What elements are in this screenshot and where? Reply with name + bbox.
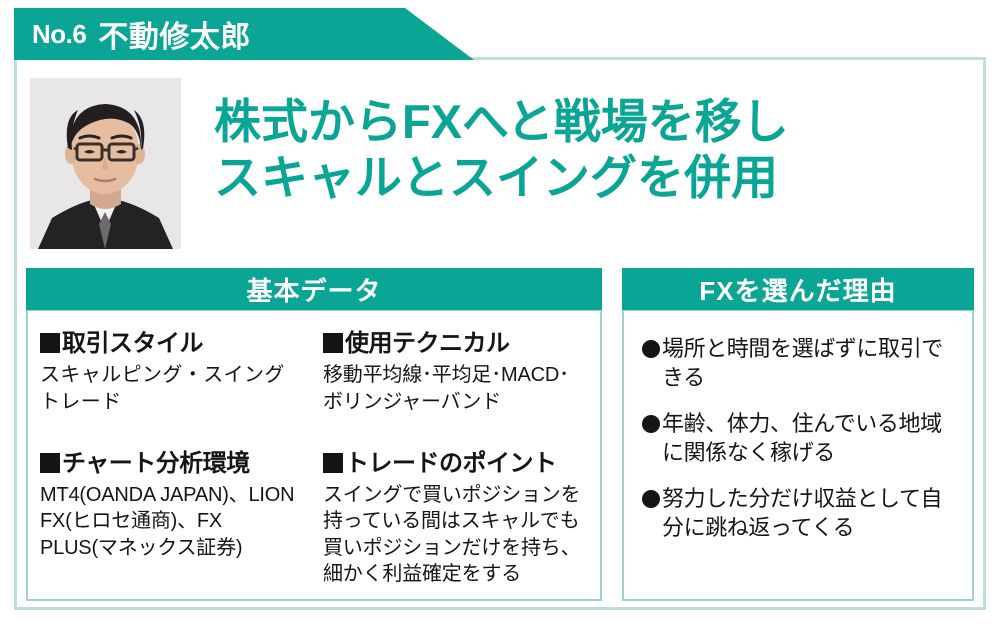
headline-line-2: スキャルとスイングを併用	[214, 150, 974, 206]
item-body: スイングで買いポジションを持っている間はスキャルでも買いポジションだけを持ち、細…	[323, 482, 588, 588]
headline-line-1: 株式からFXへと戦場を移し	[214, 94, 974, 150]
item-heading: 取引スタイル	[40, 331, 295, 356]
basic-data-item-trading-style: 取引スタイル スキャルピング・スイングトレード	[26, 331, 309, 429]
black-square-icon	[323, 333, 343, 353]
basic-data-item-technical-indicators: 使用テクニカル 移動平均線･平均足･MACD･ボリンジャーバンド	[309, 331, 602, 429]
item-body: 移動平均線･平均足･MACD･ボリンジャーバンド	[323, 362, 588, 415]
item-body: スキャルピング・スイングトレード	[40, 362, 295, 415]
list-item-label: 努力した分だけ収益として自分に跳ね返ってくる	[662, 485, 958, 542]
list-item: 場所と時間を選ばずに取引できる	[642, 335, 958, 392]
item-heading: 使用テクニカル	[323, 331, 588, 356]
header-number: No.6	[32, 19, 86, 50]
black-square-icon	[323, 453, 343, 473]
list-item: 年齢、体力、住んでいる地域に関係なく稼げる	[642, 410, 958, 467]
list-item-label: 場所と時間を選ばずに取引できる	[662, 335, 958, 392]
item-heading: チャート分析環境	[40, 451, 295, 476]
basic-data-grid: 取引スタイル スキャルピング・スイングトレード 使用テクニカル 移動平均線･平均…	[26, 309, 602, 601]
section-header-basic-data: 基本データ	[26, 268, 602, 310]
item-heading: トレードのポイント	[323, 451, 588, 476]
basic-data-item-trade-points: トレードのポイント スイングで買いポジションを持っている間はスキャルでも買いポジ…	[309, 429, 602, 601]
bullet-dot-icon	[642, 415, 660, 433]
item-body: MT4(OANDA JAPAN)、LION FX(ヒロセ通商)、FX PLUS(…	[40, 482, 295, 561]
basic-data-item-chart-environment: チャート分析環境 MT4(OANDA JAPAN)、LION FX(ヒロセ通商)…	[26, 429, 309, 601]
header-banner: No.6 不動修太郎	[14, 8, 474, 60]
header-person-name: 不動修太郎	[98, 12, 251, 56]
list-item-label: 年齢、体力、住んでいる地域に関係なく稼げる	[662, 410, 958, 467]
list-item: 努力した分だけ収益として自分に跳ね返ってくる	[642, 485, 958, 542]
portrait-illustration	[30, 78, 181, 249]
black-square-icon	[40, 333, 60, 353]
bullet-dot-icon	[642, 490, 660, 508]
black-square-icon	[40, 453, 60, 473]
bullet-dot-icon	[642, 340, 660, 358]
portrait-photo	[30, 78, 181, 249]
section-header-fx-reason: FXを選んだ理由	[622, 268, 974, 310]
page-title: 株式からFXへと戦場を移し スキャルとスイングを併用	[214, 94, 974, 206]
profile-card: No.6 不動修太郎	[0, 0, 1000, 627]
fx-reason-list: 場所と時間を選ばずに取引できる 年齢、体力、住んでいる地域に関係なく稼げる 努力…	[622, 309, 974, 601]
